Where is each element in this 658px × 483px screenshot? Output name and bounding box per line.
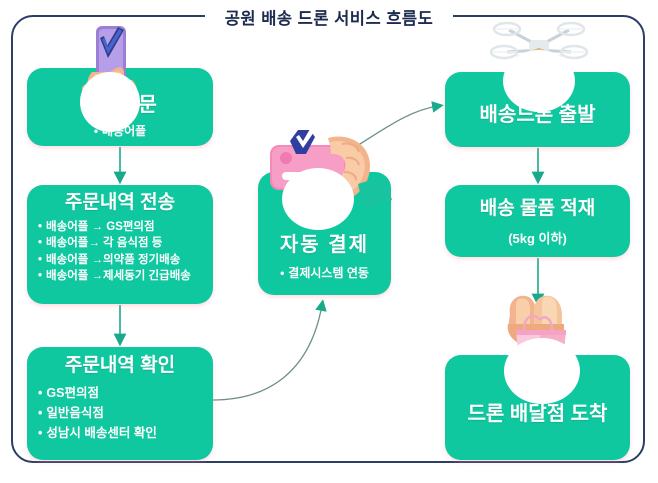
list-item: GS편의점	[38, 383, 213, 403]
node-title: 드론 배달점 도착	[445, 403, 630, 425]
node-subtitle: (5kg 이하)	[445, 228, 630, 247]
node-title: 고객주문	[27, 94, 213, 116]
node-bullets: 배송어플	[27, 123, 213, 140]
node-title: 주문내역 전송	[27, 193, 213, 214]
node-title: 주문내역 확인	[27, 356, 213, 377]
connector-payment-to-depart	[332, 106, 438, 160]
node-order-confirm[interactable]: 주문내역 확인 GS편의점 일반음식점 성남시 배송센터 확인	[27, 347, 213, 460]
node-order-transmit[interactable]: 주문내역 전송 배송어플 → GS편의점 배송어플→ 각 음식점 등 배송어플 …	[27, 185, 213, 304]
list-item: 성남시 배송센터 확인	[38, 423, 213, 443]
node-title: 배송 물품 적재	[445, 199, 630, 220]
node-bullets: 배송어플 → GS편의점 배송어플→ 각 음식점 등 배송어플 →의약품 정기배…	[27, 219, 213, 284]
list-item: 배송어플	[27, 123, 213, 140]
node-drone-depart[interactable]: 배송드론 출발	[445, 72, 630, 147]
list-item: 배송어플 →제세동기 긴급배송	[38, 268, 213, 284]
node-title: 배송드론 출발	[445, 104, 630, 126]
list-item: 결제시스템 연동	[258, 265, 391, 282]
node-bullets: GS편의점 일반음식점 성남시 배송센터 확인	[27, 383, 213, 444]
node-auto-payment[interactable]: 자동 결제 결제시스템 연동	[258, 172, 391, 295]
node-bullets: 결제시스템 연동	[258, 265, 391, 282]
connector-confirm-to-payment	[213, 305, 322, 400]
node-title: 자동 결제	[258, 234, 391, 256]
list-item: 일반음식점	[38, 403, 213, 423]
diagram-canvas: 공원 배송 드론 서비스 흐름도	[0, 0, 658, 483]
node-drone-arrive[interactable]: 드론 배달점 도착	[445, 355, 630, 460]
list-item: 배송어플 →의약품 정기배송	[38, 252, 213, 268]
node-load-goods[interactable]: 배송 물품 적재 (5kg 이하)	[445, 185, 630, 257]
list-item: 배송어플→ 각 음식점 등	[38, 235, 213, 251]
node-customer-order[interactable]: 고객주문 배송어플	[27, 68, 213, 146]
list-item: 배송어플 → GS편의점	[38, 219, 213, 235]
